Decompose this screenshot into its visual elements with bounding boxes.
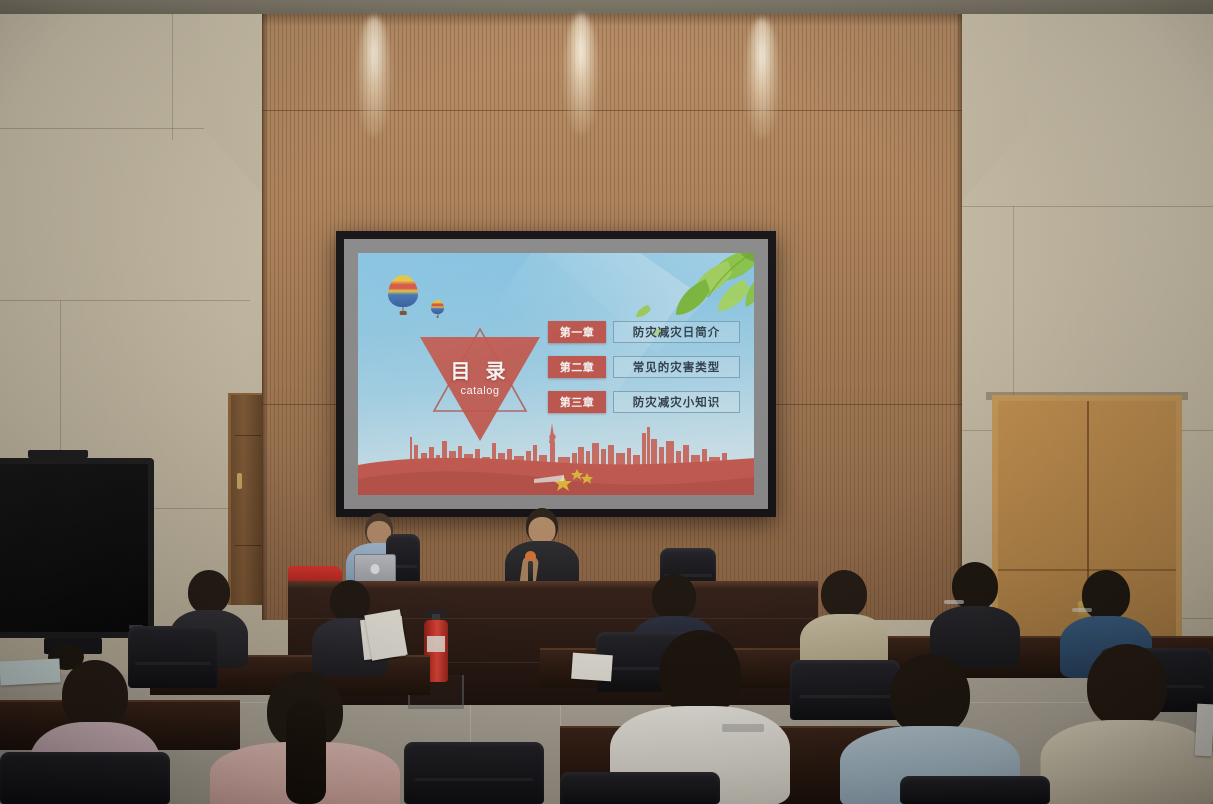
chapter-row: 第一章 防灾减灾日简介	[548, 321, 740, 343]
shirt-print	[722, 724, 764, 732]
mic-body	[528, 561, 533, 583]
ceiling-strip	[0, 0, 1213, 14]
ponytail	[286, 700, 326, 804]
audience-chair[interactable]	[404, 742, 544, 804]
document-paper	[364, 609, 407, 661]
extinguisher-label	[427, 636, 445, 652]
attendee	[930, 562, 1020, 664]
catalog-text: 目 录 catalog	[414, 355, 546, 397]
eyeglasses-icon	[944, 600, 964, 604]
wall-bevel-right	[956, 0, 962, 620]
chapter-tag: 第一章	[548, 321, 606, 343]
ceiling-spotlight-glow	[745, 18, 779, 138]
chapter-title: 常见的灾害类型	[613, 356, 740, 378]
projection-screen: 目 录 catalog 第一章 防灾减灾日简介 第二章 常见的灾害类型	[336, 231, 776, 517]
microphone[interactable]	[527, 556, 534, 582]
eyeglasses-icon	[1072, 608, 1092, 612]
document-paper	[571, 653, 613, 682]
attendee	[1040, 644, 1213, 804]
ceiling-spotlight-glow	[357, 16, 391, 136]
document-paper	[0, 658, 61, 685]
audience-chair[interactable]	[900, 776, 1050, 804]
apple-logo-icon	[371, 564, 380, 574]
screen-matte: 目 录 catalog 第一章 防灾减灾日简介 第二章 常见的灾害类型	[344, 239, 768, 509]
monitor-panel	[0, 464, 148, 632]
chapter-title: 防灾减灾日简介	[613, 321, 740, 343]
audience-chair[interactable]	[560, 772, 720, 804]
ceiling-spotlight-glow	[564, 14, 598, 134]
chapter-row: 第二章 常见的灾害类型	[548, 356, 740, 378]
wall-bevel-left	[262, 0, 268, 620]
door-handle-icon[interactable]	[237, 473, 242, 489]
document-paper	[1195, 704, 1213, 757]
laptop-lid	[354, 554, 396, 582]
hot-air-balloon-icon	[388, 275, 418, 315]
chapter-tag: 第二章	[548, 356, 606, 378]
speaker	[504, 508, 580, 592]
presentation-slide: 目 录 catalog 第一章 防灾减灾日简介 第二章 常见的灾害类型	[358, 253, 754, 495]
wall-monitor[interactable]	[0, 458, 154, 638]
camera-bar	[28, 450, 88, 458]
audience-chair[interactable]	[0, 752, 170, 804]
catalog-title-en: catalog	[414, 385, 546, 397]
conference-room-screenshot: 目 录 catalog 第一章 防灾减灾日简介 第二章 常见的灾害类型	[0, 0, 1213, 804]
catalog-title-cn: 目 录	[414, 355, 546, 384]
skyline-and-hills	[358, 403, 754, 495]
